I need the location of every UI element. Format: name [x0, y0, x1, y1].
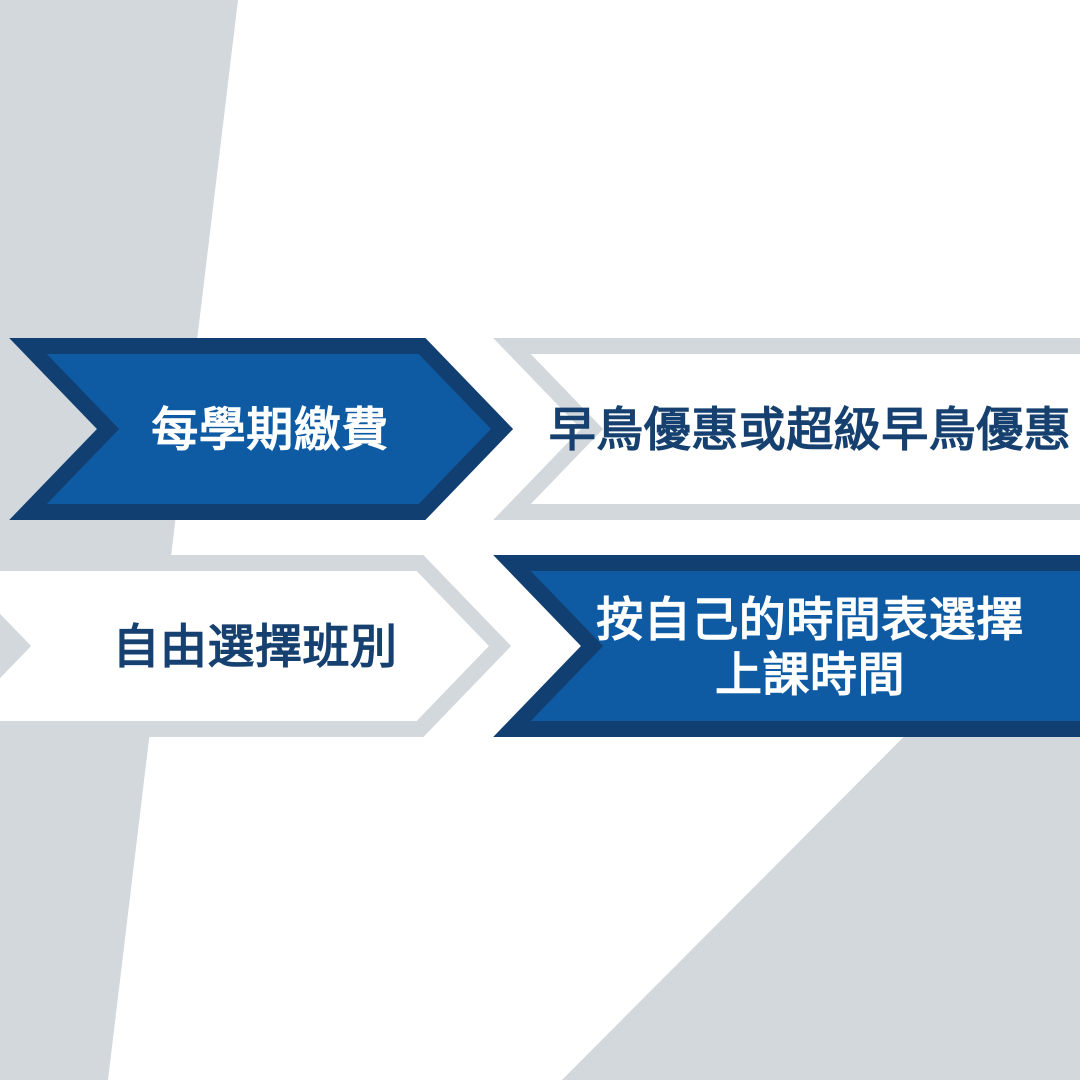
chevron-shape-3[interactable] — [0, 563, 500, 729]
chevron-shape-2[interactable] — [512, 346, 1080, 512]
infographic-canvas: 每學期繳費 早鳥優惠或超級早鳥優惠 自由選擇班別 按自己的時間表選擇 上課時間 — [0, 0, 1080, 1080]
chevron-shape-1[interactable] — [28, 346, 502, 512]
chevron-shape-4[interactable] — [512, 563, 1080, 729]
chevron-group — [0, 0, 1080, 1080]
